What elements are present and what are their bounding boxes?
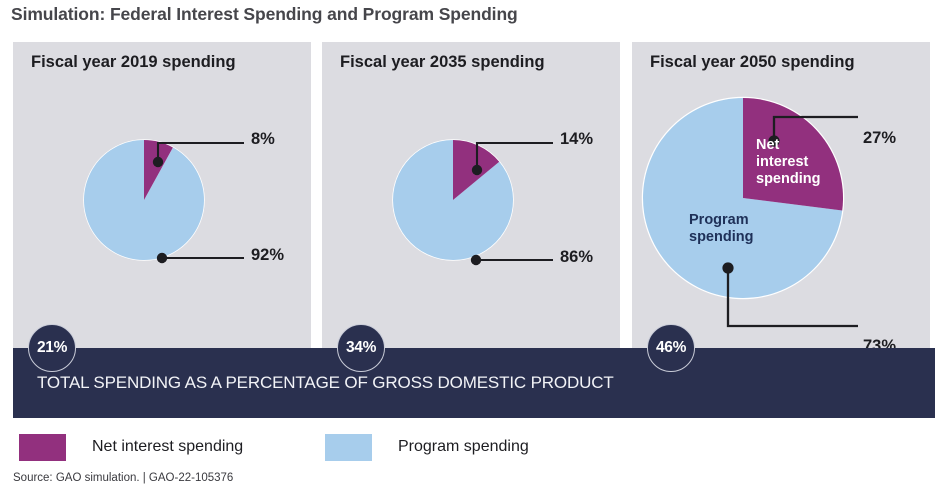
- panel-fy2019: Fiscal year 2019 spending 8% 92%: [13, 42, 311, 348]
- legend-label-program: Program spending: [398, 438, 529, 456]
- gdp-summary-caption: TOTAL SPENDING AS A PERCENTAGE OF GROSS …: [37, 373, 614, 393]
- panel-title-fy2050: Fiscal year 2050 spending: [650, 53, 855, 72]
- gdp-badge-value-fy2019: 21%: [37, 339, 67, 357]
- gdp-badge-value-fy2050: 46%: [656, 339, 686, 357]
- callout-dot-net-interest: [153, 157, 163, 167]
- slice-label-net-interest-line3: spending: [756, 171, 820, 188]
- pie-slice-program: [84, 140, 204, 260]
- legend: Net interest spending Program spending: [19, 433, 919, 461]
- legend-item-program: Program spending: [325, 433, 529, 461]
- slice-label-net-interest-fy2050: Net interest spending: [756, 137, 820, 187]
- figure-title: Simulation: Federal Interest Spending an…: [11, 4, 911, 25]
- callout-label-net-interest-fy2035: 14%: [560, 130, 593, 149]
- infographic-root: Simulation: Federal Interest Spending an…: [0, 0, 945, 493]
- panel-title-fy2035: Fiscal year 2035 spending: [340, 53, 545, 72]
- panel-title-fy2019: Fiscal year 2019 spending: [31, 53, 236, 72]
- slice-label-program-fy2050: Program spending: [689, 212, 753, 246]
- callout-dot-net-interest: [472, 165, 482, 175]
- callout-dot-program: [471, 255, 481, 265]
- pie-chart-fy2035: [381, 140, 581, 280]
- gdp-badge-fy2019: 21%: [28, 324, 76, 372]
- panel-fy2050: Fiscal year 2050 spending Net interest: [632, 42, 930, 348]
- source-note: Source: GAO simulation. | GAO-22-105376: [13, 472, 233, 484]
- legend-swatch-net-interest: [19, 434, 66, 461]
- callout-label-program-fy2035: 86%: [560, 248, 593, 267]
- callout-label-net-interest-fy2019: 8%: [251, 130, 275, 149]
- legend-swatch-program: [325, 434, 372, 461]
- callout-label-net-interest-fy2050: 27%: [863, 129, 896, 148]
- pie-chart-fy2019: [72, 140, 272, 280]
- gdp-summary-bar: TOTAL SPENDING AS A PERCENTAGE OF GROSS …: [13, 348, 935, 418]
- slice-label-program-line1: Program: [689, 212, 753, 229]
- gdp-badge-fy2050: 46%: [647, 324, 695, 372]
- gdp-badge-value-fy2035: 34%: [346, 339, 376, 357]
- callout-dot-program: [157, 253, 167, 263]
- slice-label-program-line2: spending: [689, 229, 753, 246]
- slice-label-net-interest-line2: interest: [756, 154, 820, 171]
- gdp-badge-fy2035: 34%: [337, 324, 385, 372]
- legend-label-net-interest: Net interest spending: [92, 438, 243, 456]
- callout-dot-program: [722, 262, 733, 273]
- panel-fy2035: Fiscal year 2035 spending 14% 86%: [322, 42, 620, 348]
- callout-label-program-fy2019: 92%: [251, 246, 284, 265]
- slice-label-net-interest-line1: Net: [756, 137, 820, 154]
- legend-item-net-interest: Net interest spending: [19, 433, 243, 461]
